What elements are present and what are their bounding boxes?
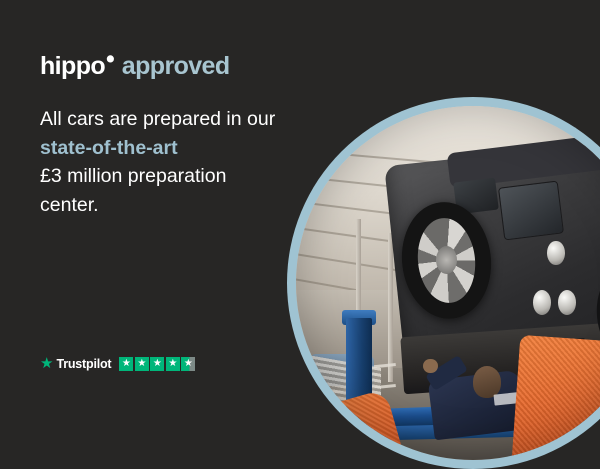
- defender-rear-window: [498, 180, 564, 240]
- rear-lamp: [533, 290, 551, 315]
- rating-star-box: ★: [166, 357, 180, 371]
- trustpilot-label: Trustpilot: [56, 357, 111, 371]
- star-icon: ★: [122, 359, 131, 369]
- headline-accent: state-of-the-art: [40, 137, 178, 159]
- rating-star-box: ★: [135, 357, 149, 371]
- star-icon: ★: [184, 359, 193, 369]
- star-icon: ★: [137, 359, 146, 369]
- headline-line-1: All cars are prepared in our: [40, 108, 275, 130]
- trustpilot-rating: ★ ★ ★ ★ ★: [119, 357, 195, 371]
- rating-star-box: ★: [119, 357, 133, 371]
- spare-wheel-hub: [436, 246, 457, 274]
- rear-lamp: [558, 290, 576, 315]
- orange-ramp-right: [510, 334, 600, 460]
- trustpilot-badge[interactable]: ★ Trustpilot ★ ★ ★ ★ ★: [40, 356, 195, 371]
- page-title: All cars are prepared in our state-of-th…: [40, 105, 305, 219]
- scaffold-post: [388, 233, 393, 382]
- trustpilot-star-icon: ★: [40, 356, 53, 371]
- rating-star-box: ★: [181, 357, 195, 371]
- rating-star-box: ★: [150, 357, 164, 371]
- workshop-photo: [296, 106, 600, 460]
- headline-line-2: £3 million preparation: [40, 165, 226, 187]
- headline-line-3: center.: [40, 194, 99, 216]
- brand-logo[interactable]: hippo • approved: [40, 52, 230, 81]
- hero-image-circle: [287, 97, 600, 469]
- star-icon: ★: [153, 359, 162, 369]
- rear-lamp: [547, 241, 565, 266]
- brand-name-secondary: approved: [122, 52, 230, 81]
- hero-image-clip: [296, 106, 600, 460]
- brand-name-primary: hippo: [40, 52, 105, 81]
- mechanic-hand: [423, 359, 437, 373]
- star-icon: ★: [168, 359, 177, 369]
